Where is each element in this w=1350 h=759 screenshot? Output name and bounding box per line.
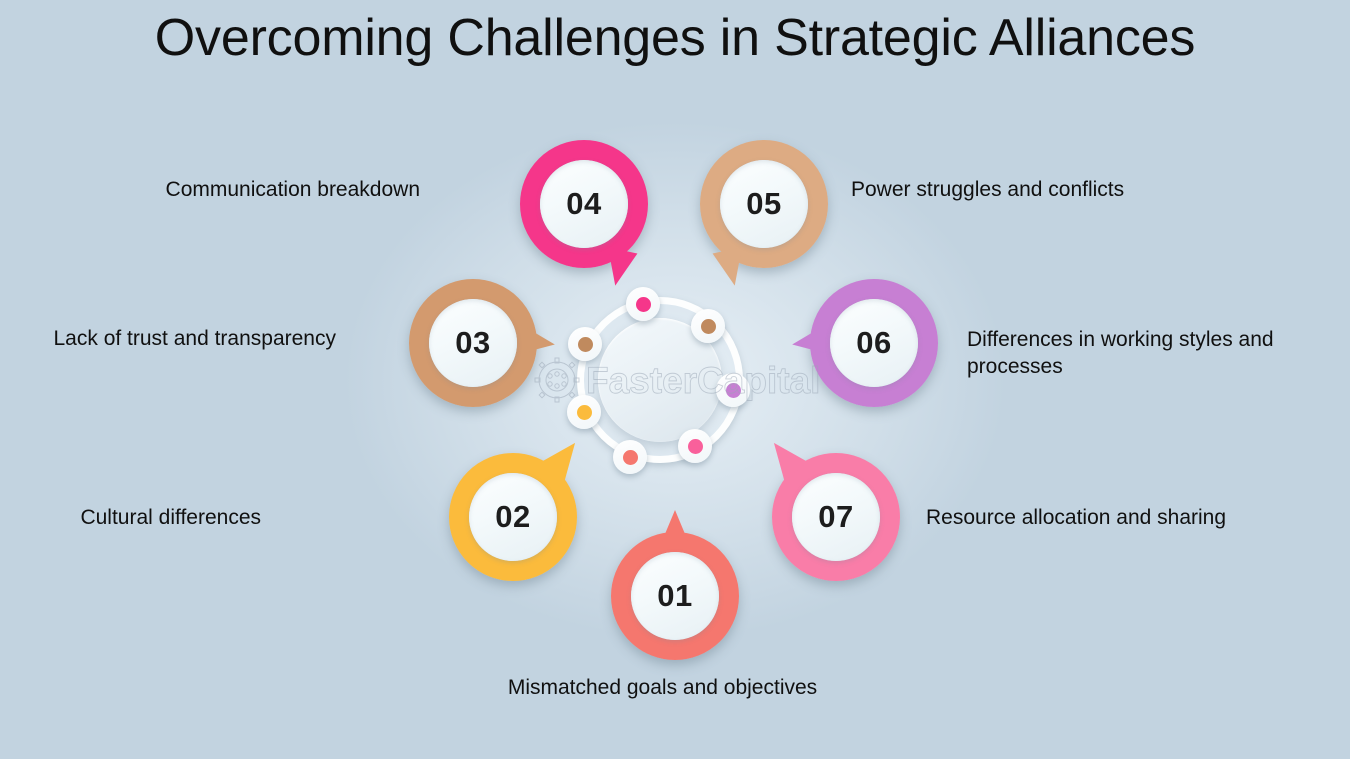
step-label-03: Lack of trust and transparency <box>0 325 336 352</box>
hub-node-05[interactable] <box>691 309 725 343</box>
step-tail-04 <box>601 247 638 288</box>
step-tail-01 <box>660 510 690 546</box>
hub-node-02[interactable] <box>567 395 601 429</box>
step-label-04: Communication breakdown <box>20 176 420 203</box>
step-number-07: 07 <box>818 499 853 535</box>
step-inner-07: 07 <box>792 473 880 561</box>
step-bubble-01[interactable]: 01 <box>611 532 739 660</box>
center-hub <box>565 285 755 475</box>
hub-node-01[interactable] <box>613 440 647 474</box>
step-bubble-03[interactable]: 03 <box>409 279 537 407</box>
step-number-01: 01 <box>657 578 692 614</box>
step-label-06: Differences in working styles and proces… <box>967 326 1317 381</box>
step-label-05: Power struggles and conflicts <box>851 176 1251 203</box>
step-inner-05: 05 <box>720 160 808 248</box>
step-label-07: Resource allocation and sharing <box>926 504 1326 531</box>
step-bubble-02[interactable]: 02 <box>449 453 577 581</box>
step-bubble-07[interactable]: 07 <box>772 453 900 581</box>
step-label-01: Mismatched goals and objectives <box>425 674 900 701</box>
step-inner-04: 04 <box>540 160 628 248</box>
page-title: Overcoming Challenges in Strategic Allia… <box>0 8 1350 68</box>
step-inner-03: 03 <box>429 299 517 387</box>
step-bubble-05[interactable]: 05 <box>700 140 828 268</box>
step-bubble-06[interactable]: 06 <box>810 279 938 407</box>
step-number-05: 05 <box>746 186 781 222</box>
step-label-02: Cultural differences <box>0 504 261 531</box>
step-number-02: 02 <box>495 499 530 535</box>
step-inner-02: 02 <box>469 473 557 561</box>
step-number-06: 06 <box>856 325 891 361</box>
hub-node-06[interactable] <box>716 373 750 407</box>
step-bubble-04[interactable]: 04 <box>520 140 648 268</box>
step-inner-06: 06 <box>830 299 918 387</box>
step-tail-03 <box>517 325 557 360</box>
step-number-03: 03 <box>455 325 490 361</box>
step-tail-06 <box>790 325 830 360</box>
step-inner-01: 01 <box>631 552 719 640</box>
hub-node-04[interactable] <box>626 287 660 321</box>
hub-node-07[interactable] <box>678 429 712 463</box>
hub-node-03[interactable] <box>568 327 602 361</box>
step-number-04: 04 <box>566 186 601 222</box>
